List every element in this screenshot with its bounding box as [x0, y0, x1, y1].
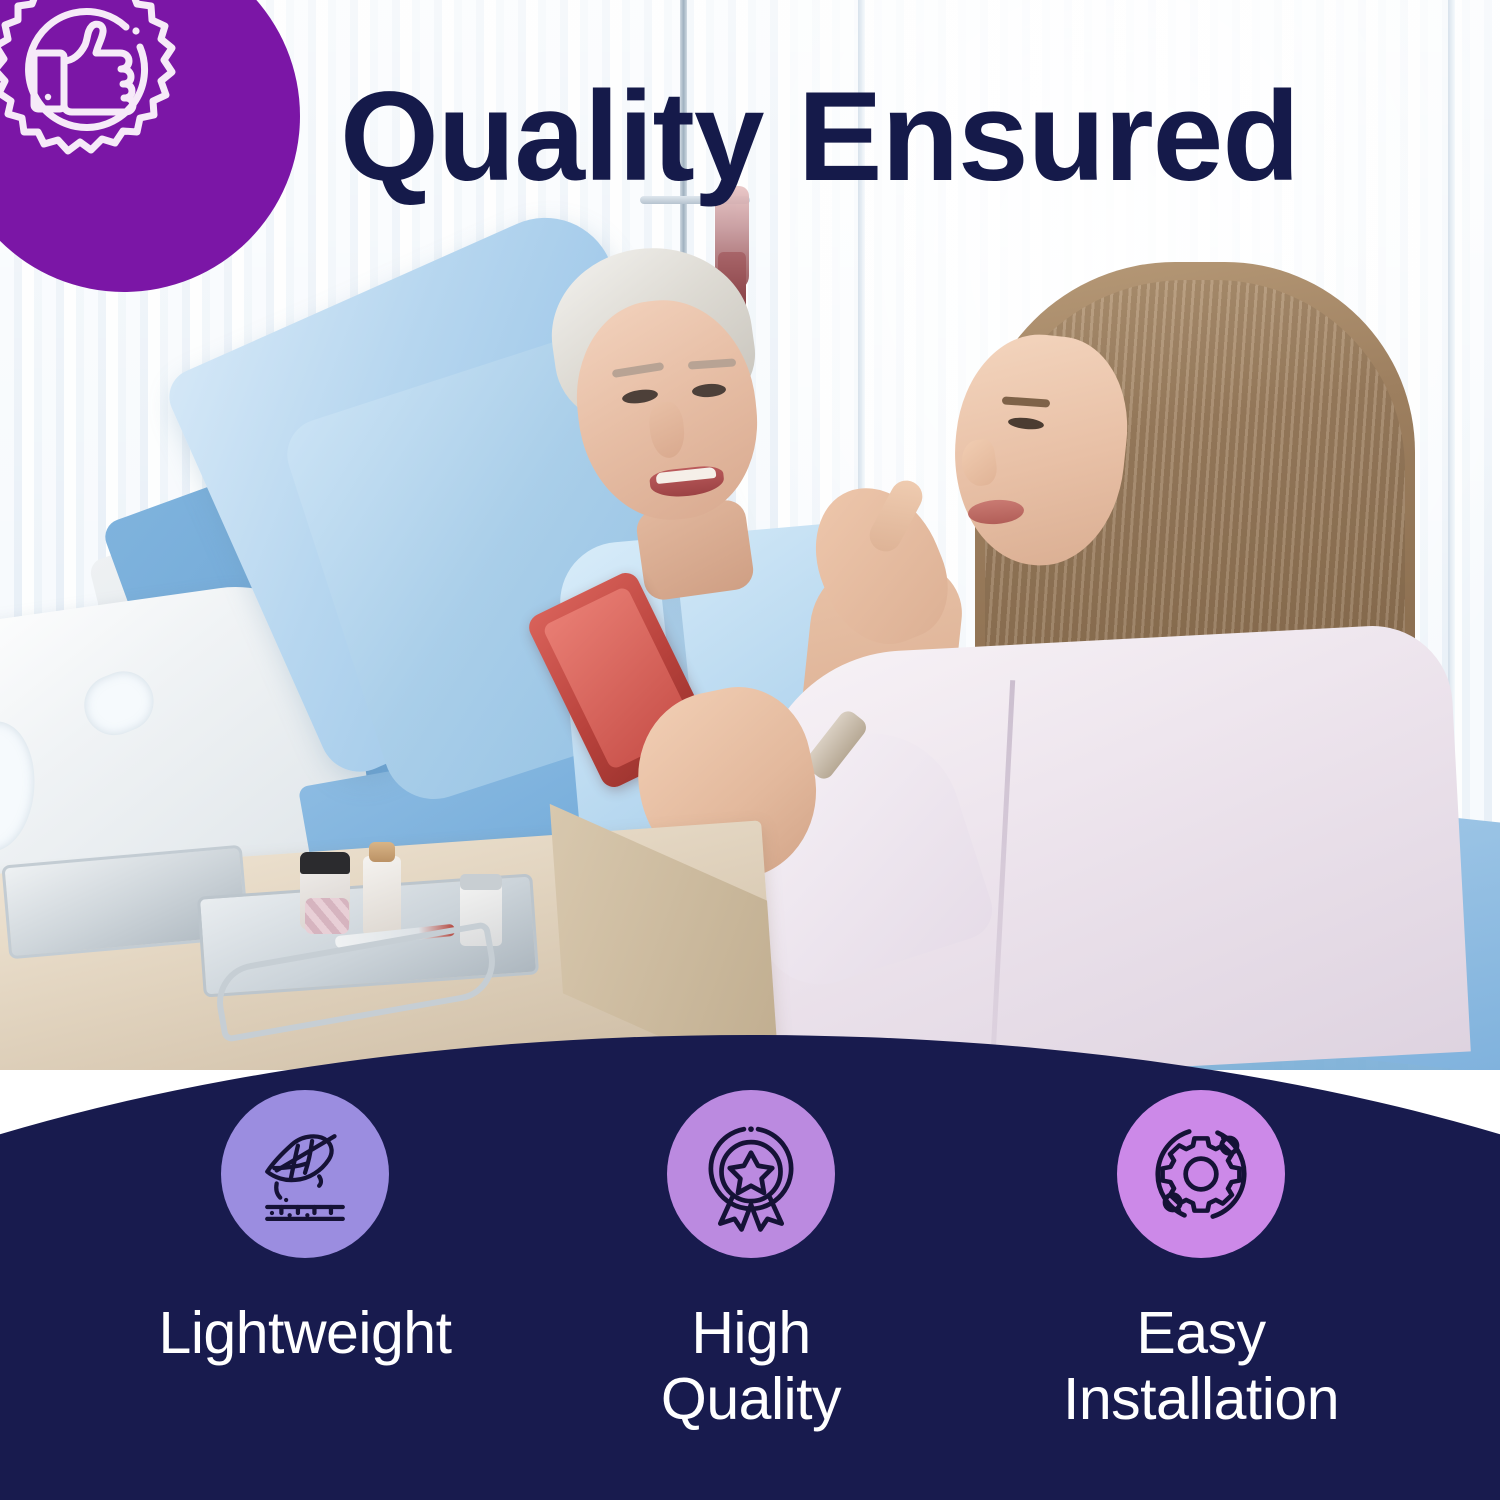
feature-item-easy-installation: Easy Installation	[971, 1090, 1431, 1432]
feature-item-lightweight: Lightweight	[75, 1090, 535, 1432]
feature-list: Lightweight High Quality	[0, 1090, 1500, 1432]
feather-lightweight-icon	[246, 1115, 364, 1233]
feature-item-high-quality: High Quality	[521, 1090, 981, 1432]
medicine-jar-cap	[300, 852, 350, 874]
medicine-bottle	[363, 856, 401, 936]
feature-label-high-quality: High Quality	[661, 1300, 841, 1432]
bed-rail-cutout	[0, 719, 39, 854]
bed-rail-cutout	[75, 662, 162, 744]
promo-banner: Quality Ensured	[0, 0, 1500, 1500]
feature-label-line1: High	[691, 1300, 810, 1366]
feature-icon-circle-high-quality	[667, 1090, 835, 1258]
feature-icon-circle-easy-installation	[1117, 1090, 1285, 1258]
award-medal-icon	[692, 1115, 810, 1233]
feature-label-line2: Quality	[661, 1366, 841, 1432]
feature-label-line1: Easy	[1136, 1300, 1265, 1366]
medicine-bottle-cork	[369, 842, 395, 862]
medicine-vial-cap	[460, 874, 502, 890]
thumbs-up-quality-seal-icon	[0, 0, 186, 175]
feature-label-lightweight: Lightweight	[159, 1300, 452, 1366]
feature-icon-circle-lightweight	[221, 1090, 389, 1258]
gear-orbit-installation-icon	[1142, 1115, 1260, 1233]
pills	[305, 898, 349, 934]
page-title: Quality Ensured	[340, 73, 1460, 200]
feature-label-line2: Installation	[1063, 1366, 1339, 1432]
feature-label-easy-installation: Easy Installation	[1063, 1300, 1339, 1432]
